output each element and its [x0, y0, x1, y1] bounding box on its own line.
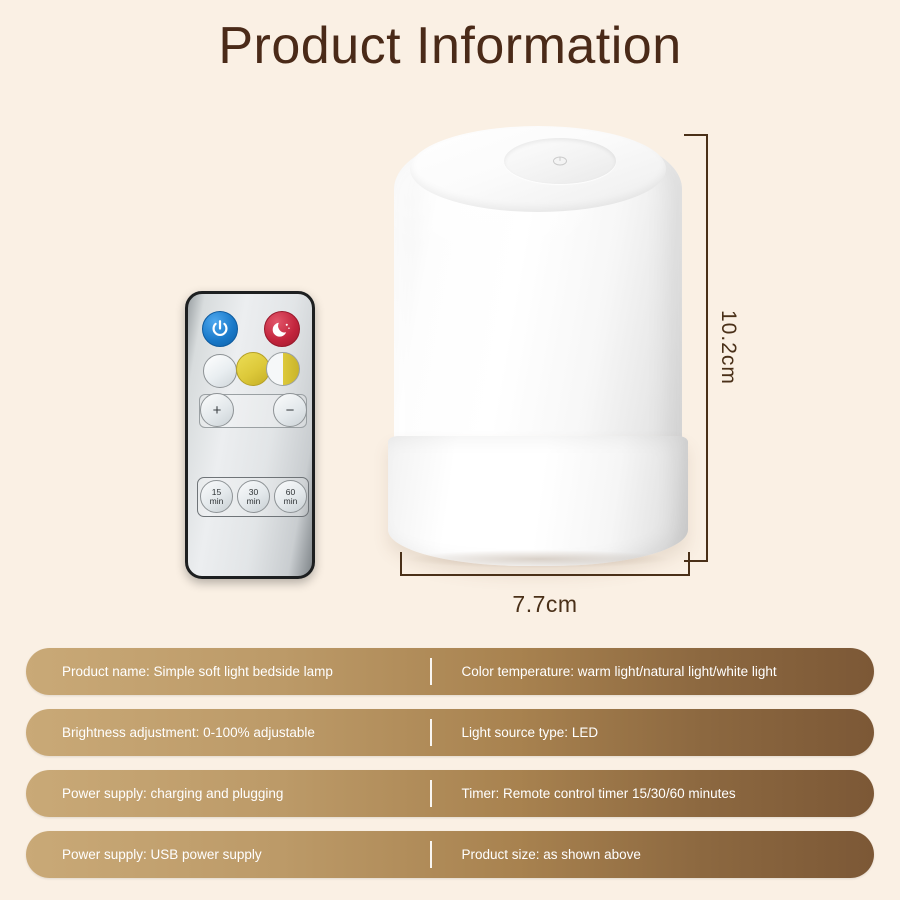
- lamp-top-surface: [410, 126, 666, 212]
- remote-timer-30min-button[interactable]: 30 min: [237, 480, 270, 513]
- product-information-page: Product Information + −: [0, 0, 900, 900]
- timer-unit: min: [247, 497, 261, 506]
- table-row: Product name: Simple soft light bedside …: [26, 648, 874, 695]
- height-dimension-label: 10.2cm: [716, 310, 740, 385]
- height-dimension-tick-top: [684, 134, 708, 136]
- spec-product-size: Product size: as shown above: [432, 847, 641, 862]
- width-dimension-line: [400, 574, 690, 576]
- lamp-touch-control-panel[interactable]: [504, 138, 616, 184]
- table-row: Brightness adjustment: 0-100% adjustable…: [26, 709, 874, 756]
- spec-timer: Timer: Remote control timer 15/30/60 min…: [432, 786, 736, 801]
- power-icon: [549, 154, 571, 168]
- bedside-lamp-image: [388, 118, 688, 566]
- remote-face: + − 15 min 30 min 60 min: [188, 294, 312, 576]
- timer-unit: min: [284, 497, 298, 506]
- width-dimension-tick-right: [688, 552, 690, 576]
- remote-control: + − 15 min 30 min 60 min: [185, 291, 315, 579]
- spec-light-source-type: Light source type: LED: [432, 725, 599, 740]
- moon-icon: [271, 318, 293, 340]
- remote-timer-15min-button[interactable]: 15 min: [200, 480, 233, 513]
- remote-power-button[interactable]: [202, 311, 238, 347]
- remote-white-light-button[interactable]: [203, 354, 237, 388]
- page-title: Product Information: [0, 16, 900, 76]
- table-row: Power supply: USB power supply Product s…: [26, 831, 874, 878]
- specification-table: Product name: Simple soft light bedside …: [0, 648, 900, 892]
- timer-unit: min: [210, 497, 224, 506]
- width-dimension-label: 7.7cm: [400, 591, 690, 618]
- spec-brightness-adjustment: Brightness adjustment: 0-100% adjustable: [26, 725, 430, 740]
- remote-natural-light-button[interactable]: [266, 352, 300, 386]
- remote-timer-60min-button[interactable]: 60 min: [274, 480, 307, 513]
- lamp-drop-shadow: [408, 550, 668, 568]
- lamp-base: [388, 436, 688, 566]
- spec-product-name: Product name: Simple soft light bedside …: [26, 664, 430, 679]
- spec-power-supply-charging: Power supply: charging and plugging: [26, 786, 430, 801]
- remote-night-mode-button[interactable]: [264, 311, 300, 347]
- remote-brightness-down-button[interactable]: −: [273, 393, 307, 427]
- table-row: Power supply: charging and plugging Time…: [26, 770, 874, 817]
- width-dimension-tick-left: [400, 552, 402, 576]
- remote-warm-light-button[interactable]: [236, 352, 270, 386]
- height-dimension-line: [706, 134, 708, 562]
- remote-brightness-up-button[interactable]: +: [200, 393, 234, 427]
- spec-color-temperature: Color temperature: warm light/natural li…: [432, 664, 777, 679]
- spec-power-supply-usb: Power supply: USB power supply: [26, 847, 430, 862]
- power-icon: [209, 318, 231, 340]
